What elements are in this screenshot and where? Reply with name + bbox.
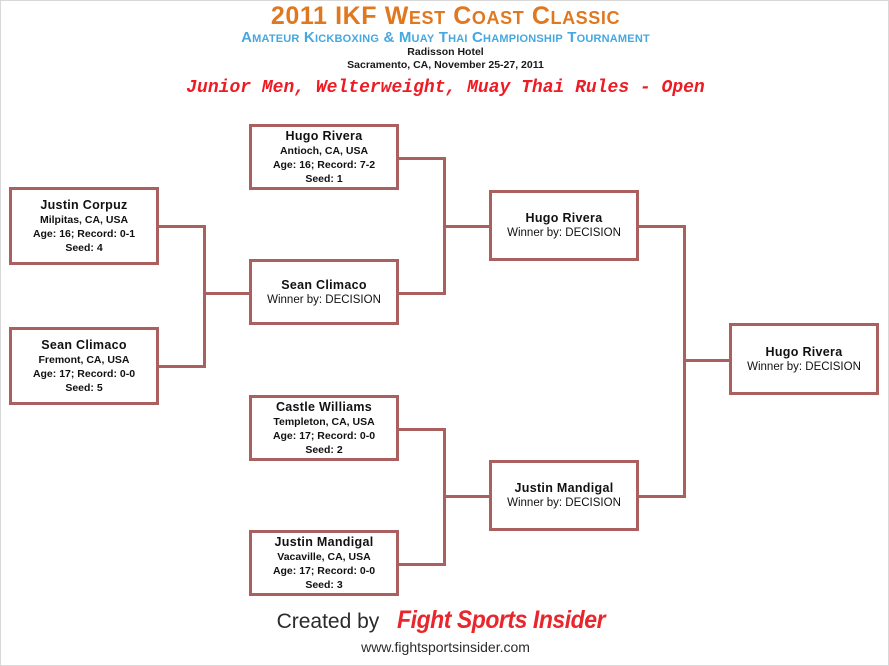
connector-semi-upper-out (638, 225, 686, 228)
site-url: www.fightsportsinsider.com (1, 637, 889, 657)
fighter-name: Sean Climaco (281, 277, 367, 293)
fighter-name: Sean Climaco (41, 337, 127, 353)
event-header: 2011 IKF West Coast Classic Amateur Kick… (1, 1, 889, 99)
venue-location: Sacramento, CA, November 25-27, 2011 (1, 59, 889, 72)
venue-name: Radisson Hotel (1, 46, 889, 59)
page-footer: Created by Fight Sports Insider www.figh… (1, 605, 889, 657)
fighter-result: Winner by: DECISION (507, 226, 621, 241)
division-title: Junior Men, Welterweight, Muay Thai Rule… (1, 77, 889, 99)
connector-to-final (683, 359, 731, 362)
connector-mandigal-out (398, 563, 446, 566)
fighter-record: Age: 17; Record: 0-0 (273, 429, 375, 443)
connector-climaco-out (158, 365, 206, 368)
connector-r1-vertical (203, 225, 206, 368)
connector-corpuz-out (158, 225, 206, 228)
bracket-box-round2-0[interactable]: Hugo Rivera Antioch, CA, USA Age: 16; Re… (249, 124, 399, 190)
champion-name: Hugo Rivera (766, 344, 843, 360)
fighter-hometown: Antioch, CA, USA (280, 144, 368, 158)
fighter-seed: Seed: 4 (65, 241, 102, 255)
credit-row: Created by Fight Sports Insider (1, 605, 889, 637)
fighter-hometown: Templeton, CA, USA (273, 415, 374, 429)
fighter-name: Castle Williams (276, 399, 372, 415)
fighter-record: Age: 16; Record: 7-2 (273, 158, 375, 172)
connector-climaco2-out (398, 292, 446, 295)
fighter-name: Justin Corpuz (40, 197, 127, 213)
connector-r1-to-r2 (203, 292, 251, 295)
bracket-box-round1-0[interactable]: Justin Corpuz Milpitas, CA, USA Age: 16;… (9, 187, 159, 265)
fighter-record: Age: 17; Record: 0-0 (273, 564, 375, 578)
fighter-seed: Seed: 3 (305, 578, 342, 592)
fighter-seed: Seed: 2 (305, 443, 342, 457)
fighter-hometown: Fremont, CA, USA (38, 353, 129, 367)
connector-rivera-out (398, 157, 446, 160)
bracket-box-round2-1[interactable]: Sean Climaco Winner by: DECISION (249, 259, 399, 325)
fighter-name: Hugo Rivera (526, 210, 603, 226)
bracket-box-semifinal-0[interactable]: Hugo Rivera Winner by: DECISION (489, 190, 639, 261)
credit-label: Created by (277, 607, 380, 637)
brand-logo: Fight Sports Insider (397, 605, 605, 635)
fighter-hometown: Vacaville, CA, USA (277, 550, 370, 564)
fighter-name: Justin Mandigal (515, 480, 614, 496)
fighter-hometown: Milpitas, CA, USA (40, 213, 128, 227)
fighter-record: Age: 17; Record: 0-0 (33, 367, 135, 381)
fighter-record: Age: 16; Record: 0-1 (33, 227, 135, 241)
fighter-result: Winner by: DECISION (267, 293, 381, 308)
fighter-result: Winner by: DECISION (507, 496, 621, 511)
connector-lower-to-semi (443, 495, 491, 498)
fighter-seed: Seed: 5 (65, 381, 102, 395)
connector-semi-lower-out (638, 495, 686, 498)
fighter-seed: Seed: 1 (305, 172, 342, 186)
event-subtitle: Amateur Kickboxing & Muay Thai Champions… (1, 29, 889, 46)
bracket-box-round2-2[interactable]: Castle Williams Templeton, CA, USA Age: … (249, 395, 399, 461)
event-title: 2011 IKF West Coast Classic (1, 3, 889, 29)
connector-upper-to-semi (443, 225, 491, 228)
bracket-page: 2011 IKF West Coast Classic Amateur Kick… (0, 0, 889, 666)
fighter-name: Justin Mandigal (275, 534, 374, 550)
bracket-box-round1-1[interactable]: Sean Climaco Fremont, CA, USA Age: 17; R… (9, 327, 159, 405)
bracket-box-semifinal-1[interactable]: Justin Mandigal Winner by: DECISION (489, 460, 639, 531)
champion-result: Winner by: DECISION (747, 360, 861, 375)
fighter-name: Hugo Rivera (286, 128, 363, 144)
bracket-box-round2-3[interactable]: Justin Mandigal Vacaville, CA, USA Age: … (249, 530, 399, 596)
connector-williams-out (398, 428, 446, 431)
bracket-box-champion[interactable]: Hugo Rivera Winner by: DECISION (729, 323, 879, 395)
